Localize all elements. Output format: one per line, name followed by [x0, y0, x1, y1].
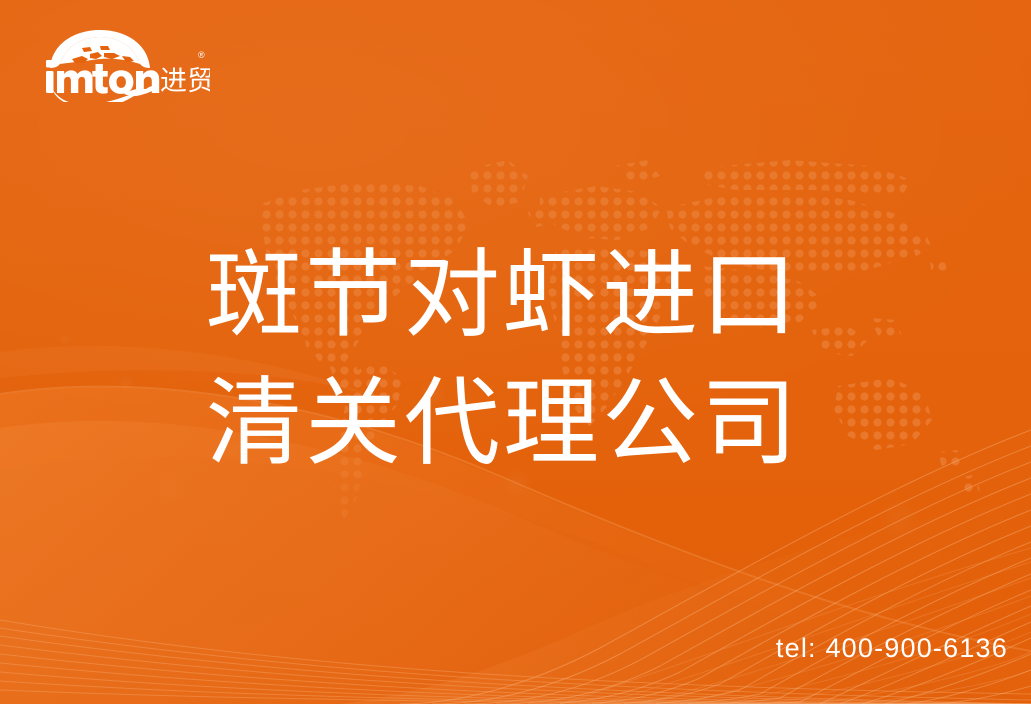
- globe-dome-icon: [50, 30, 150, 68]
- headline-line-1: 斑节对虾进口: [206, 232, 846, 360]
- logo-wordmark-chinese: 进贸通: [160, 66, 210, 96]
- registered-trademark-symbol: ®: [198, 50, 205, 60]
- contact-phone: tel: 400-900-6136: [776, 633, 1008, 664]
- brand-logo[interactable]: 进贸通 ®: [38, 28, 210, 102]
- headline-line-2: 清关代理公司: [206, 360, 846, 488]
- promo-banner: 进贸通 ® 斑节对虾进口 清关代理公司 tel: 400-900-6136: [0, 0, 1031, 704]
- headline: 斑节对虾进口 清关代理公司: [206, 232, 846, 488]
